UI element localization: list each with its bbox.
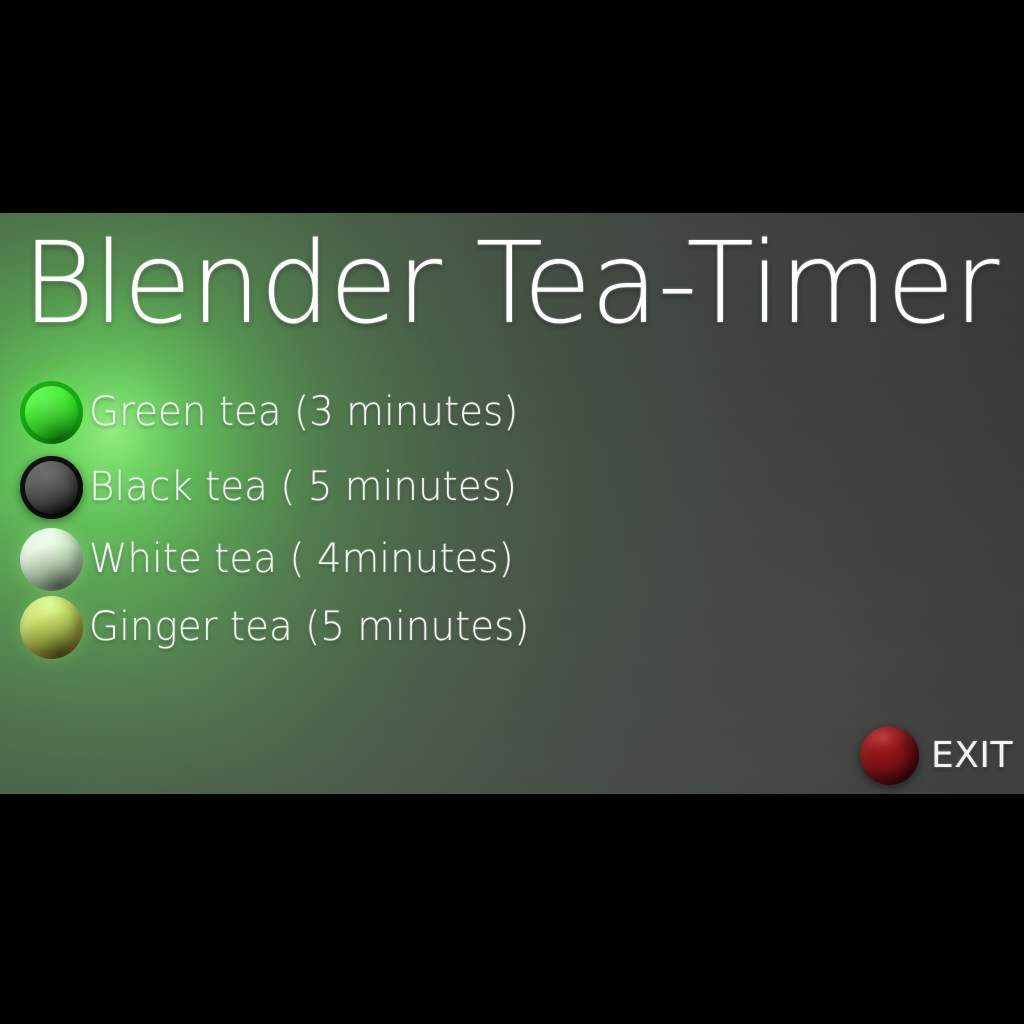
tea-option-label-black-tea: Black tea ( 5 minutes): [89, 464, 517, 510]
tea-option-label-green-tea: Green tea (3 minutes): [89, 389, 518, 435]
tea-option-black-tea[interactable]: Black tea ( 5 minutes): [20, 454, 530, 520]
swatch-shadow-black: [20, 456, 83, 519]
exit-button[interactable]: EXIT: [860, 726, 1013, 785]
white-tea-swatch[interactable]: [20, 528, 83, 591]
swatch-shadow-ginger: [20, 596, 83, 659]
tea-option-white-tea[interactable]: White tea ( 4minutes): [20, 526, 527, 592]
tea-option-green-tea[interactable]: Green tea (3 minutes): [20, 379, 532, 445]
black-tea-swatch[interactable]: [20, 456, 83, 519]
tea-option-label-white-tea: White tea ( 4minutes): [89, 536, 514, 582]
letterbox-bottom: [0, 794, 1024, 1024]
exit-orb-icon[interactable]: [860, 726, 919, 785]
swatch-rim-ginger: [20, 596, 83, 659]
ginger-tea-swatch[interactable]: [20, 596, 83, 659]
swatch-shadow-green: [20, 381, 83, 444]
app-screen: Blender Tea-Timer Green tea (3 minutes) …: [0, 0, 1024, 1024]
tea-option-label-ginger-tea: Ginger tea (5 minutes): [89, 604, 529, 650]
letterbox-top: [0, 0, 1024, 213]
swatch-rim-white: [20, 528, 83, 591]
swatch-shadow-white: [20, 528, 83, 591]
page-title: Blender Tea-Timer: [22, 225, 1002, 343]
exit-button-label: EXIT: [931, 736, 1013, 776]
green-tea-swatch[interactable]: [20, 381, 83, 444]
tea-option-ginger-tea[interactable]: Ginger tea (5 minutes): [20, 594, 543, 660]
render-viewport: Blender Tea-Timer Green tea (3 minutes) …: [0, 213, 1024, 794]
exit-orb-highlight: [860, 726, 919, 785]
